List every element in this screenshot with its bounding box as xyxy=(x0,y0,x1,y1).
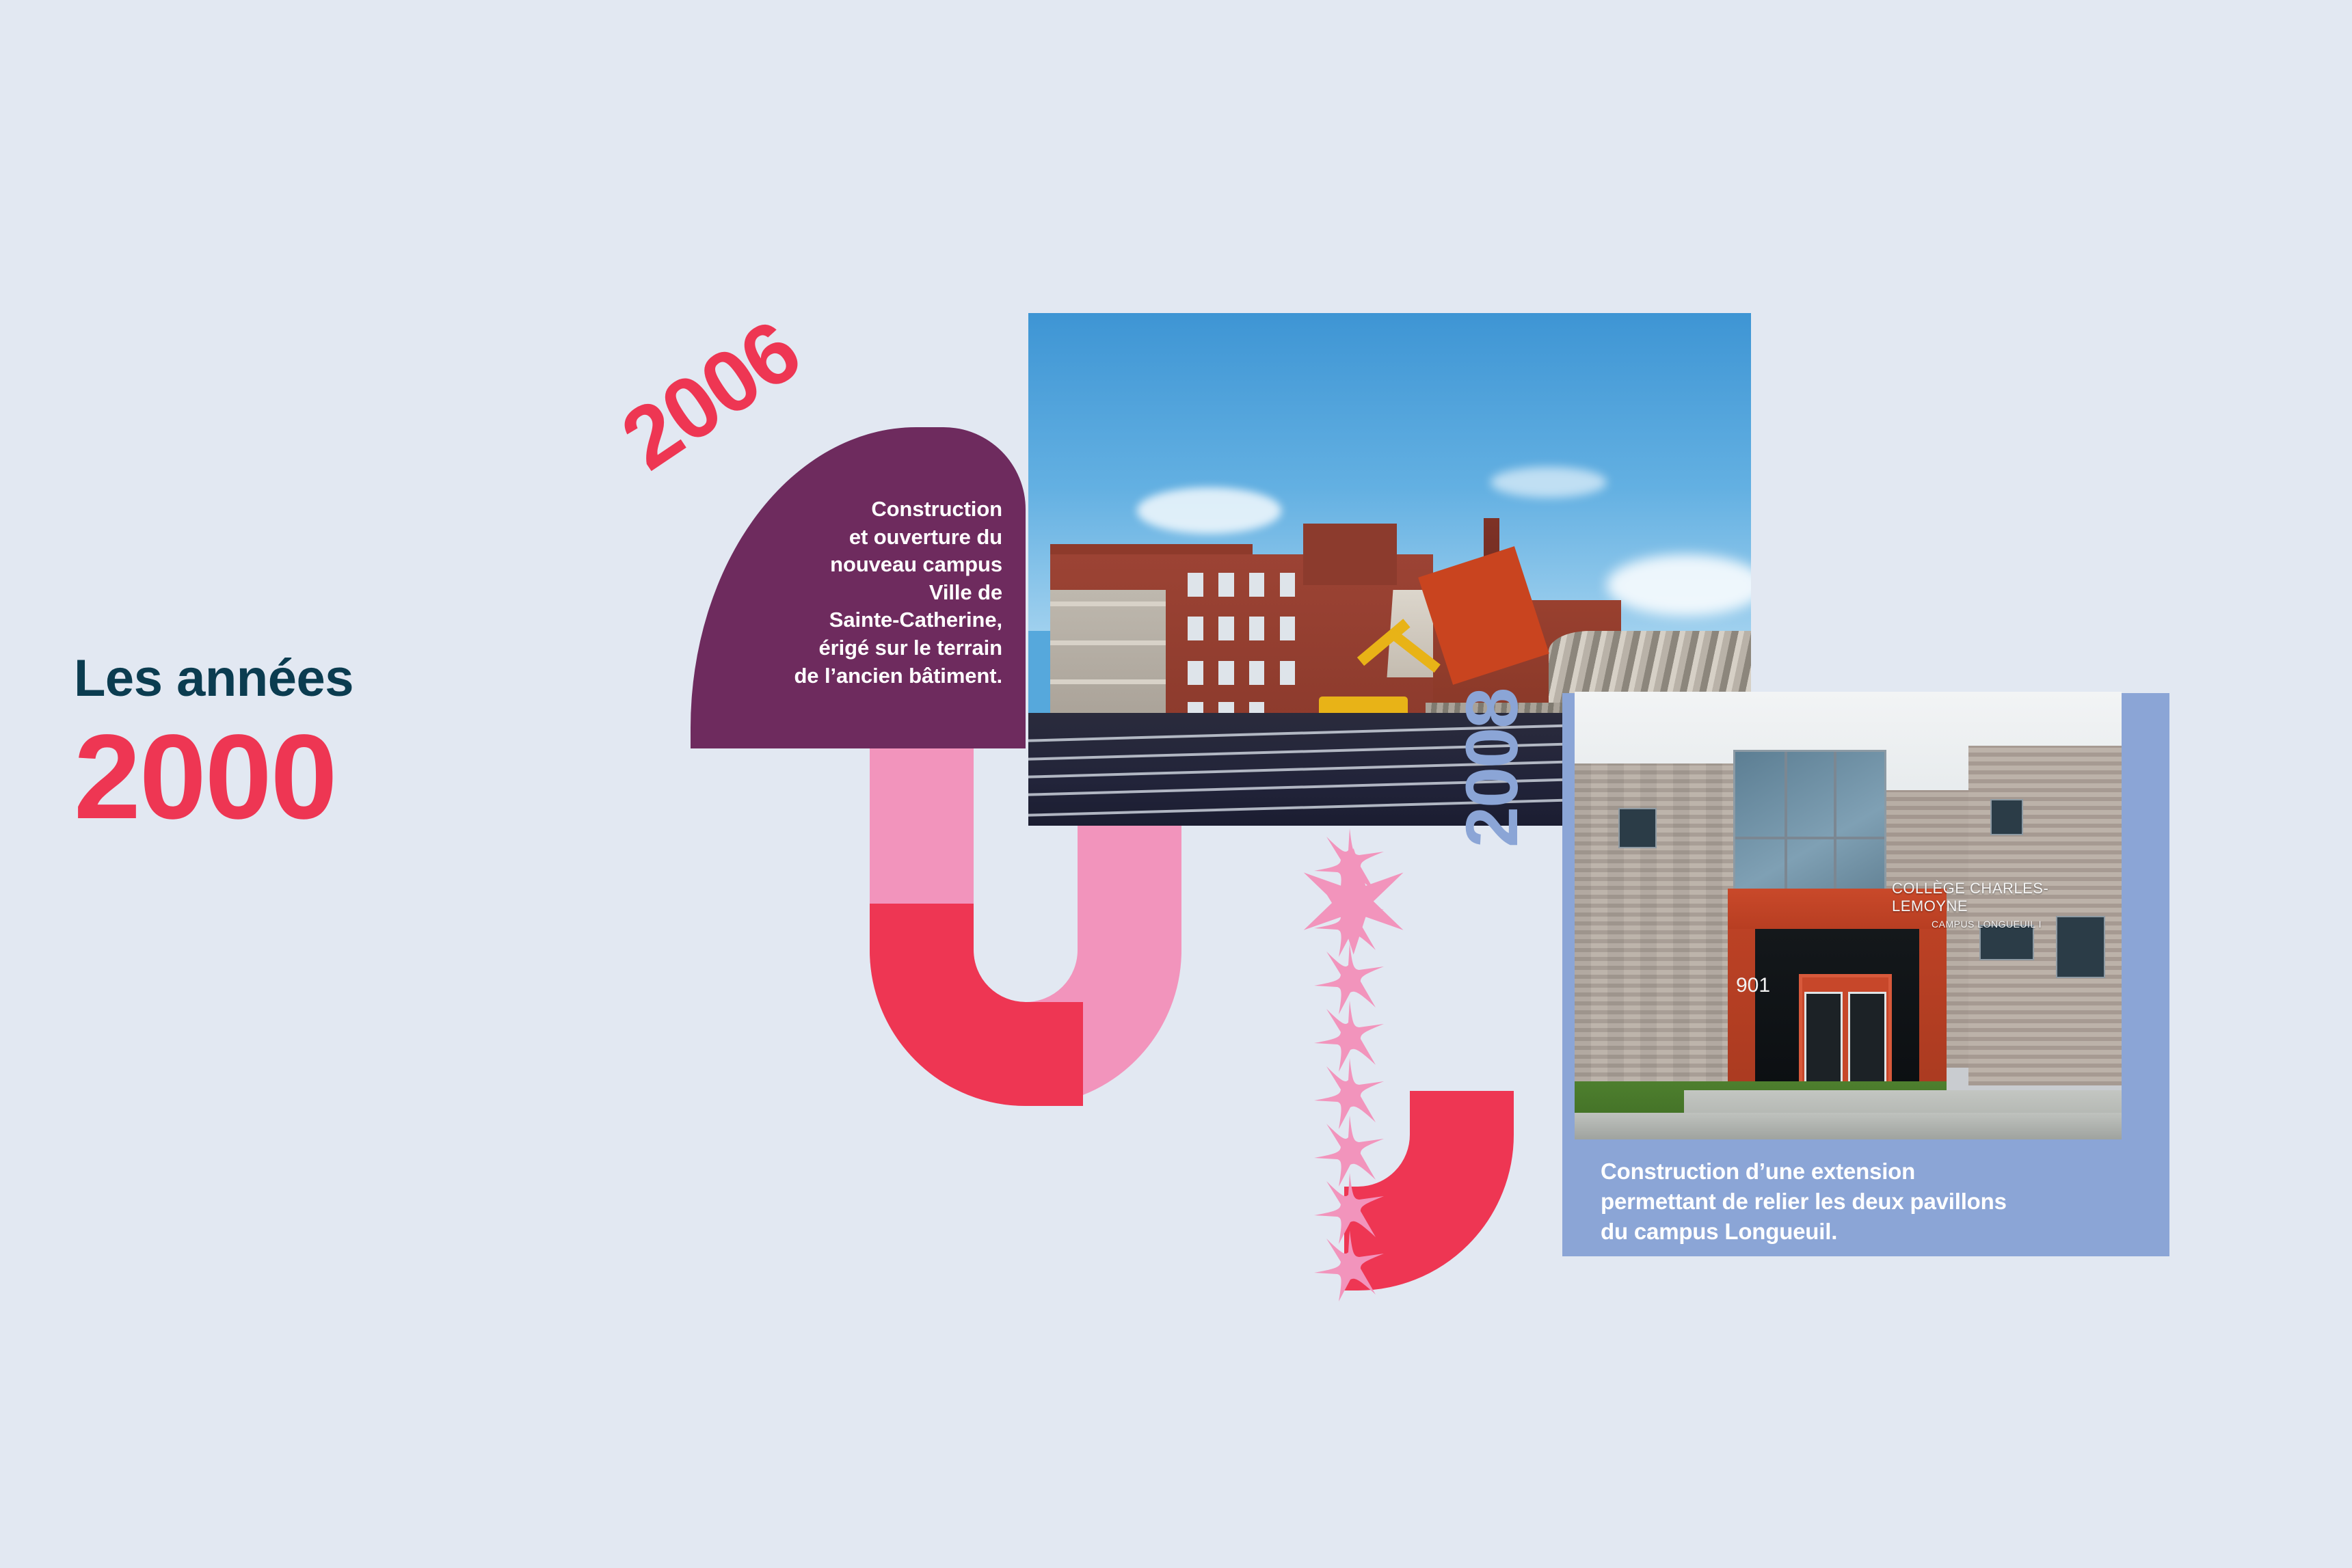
star-icon xyxy=(1314,1173,1384,1244)
building-signage: COLLÈGE CHARLES-LEMOYNE CAMPUS LONGUEUIL… xyxy=(1892,880,2122,930)
cloud xyxy=(1491,467,1606,498)
roof-tower xyxy=(1303,524,1397,585)
signage-line-1: COLLÈGE CHARLES-LEMOYNE xyxy=(1892,880,2122,915)
ribbon-crimson-tail xyxy=(1344,1091,1462,1239)
star-icon xyxy=(1304,848,1404,955)
era-label: Les années xyxy=(74,653,634,705)
window xyxy=(1618,808,1657,848)
photo-campus-2008: 901 COLLÈGE CHARLES-LEMOYNE CAMPUS LONGU… xyxy=(1575,692,2122,1139)
star-icon xyxy=(1314,1230,1384,1301)
timeline-canvas: Les années 2000 xyxy=(0,0,2352,1568)
address-number: 901 xyxy=(1736,974,1770,997)
signage-line-2: CAMPUS LONGUEUIL I xyxy=(1932,919,2122,930)
star-icon xyxy=(1314,1001,1384,1072)
cloud xyxy=(1137,487,1281,534)
star-icon xyxy=(1314,886,1384,957)
star-column xyxy=(1304,848,1404,955)
ribbon-crimson-lower xyxy=(922,904,1083,1054)
sidewalk xyxy=(1575,1113,2122,1139)
window xyxy=(1979,925,2034,960)
star-icon xyxy=(1314,1058,1384,1129)
year-label-2006-group: 2006 xyxy=(632,328,933,554)
page-title: Les années 2000 xyxy=(74,653,634,834)
brick-wall xyxy=(1575,763,1739,1095)
star-icon xyxy=(1314,1116,1384,1187)
year-label-2006: 2006 xyxy=(608,306,814,485)
window xyxy=(1990,799,2023,835)
era-year: 2000 xyxy=(74,721,634,834)
star-icon xyxy=(1314,828,1384,900)
year-label-2008: 2008 xyxy=(1455,689,1529,848)
caption-text-2008: Construction d’une extension permettant … xyxy=(1601,1157,2148,1247)
star-icon xyxy=(1314,943,1384,1014)
cloud xyxy=(1607,554,1751,616)
